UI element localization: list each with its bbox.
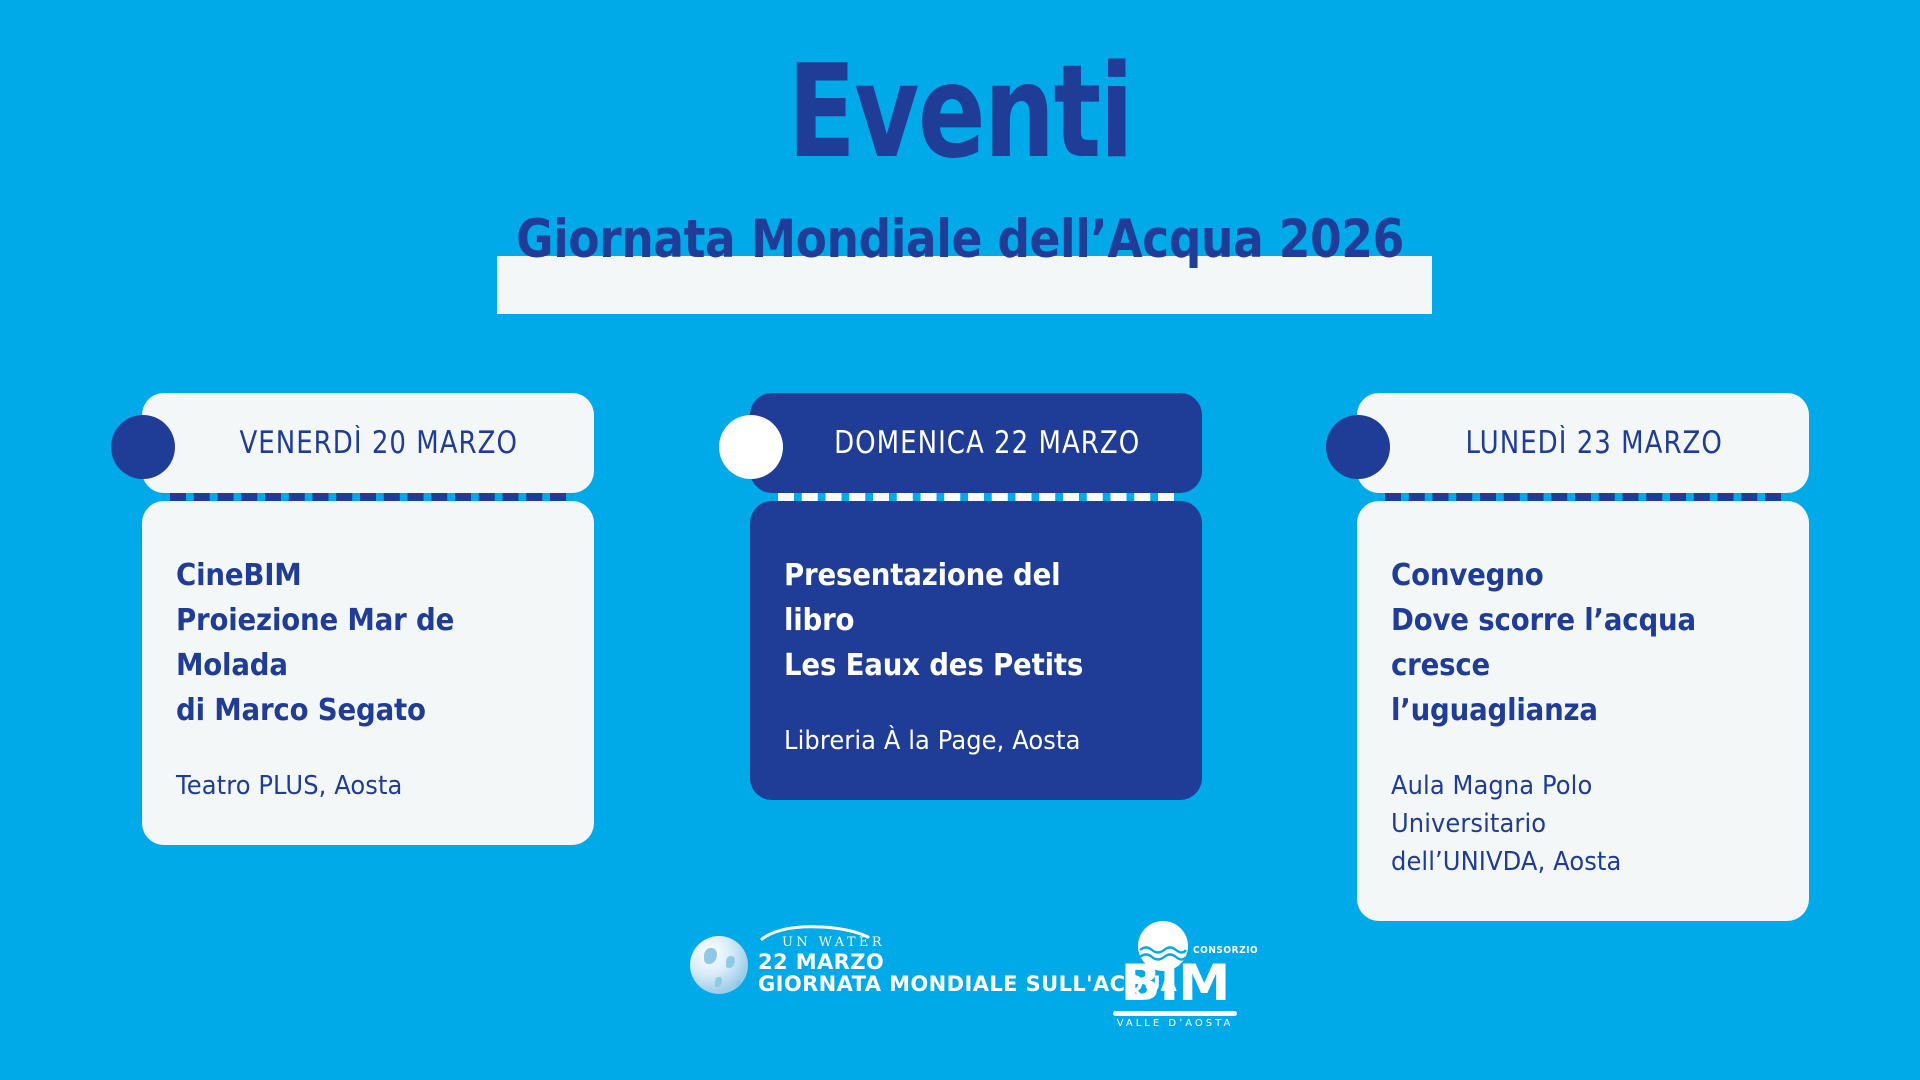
dashed-divider [1385, 493, 1781, 501]
event-day-label: VENERDÌ 20 MARZO [218, 425, 518, 461]
bullet-circle-icon [111, 415, 175, 479]
bullet-circle-icon [1326, 415, 1390, 479]
poster-canvas: Eventi Giornata Mondiale dell’Acqua 2026… [0, 0, 1920, 1080]
event-card-body: Presentazione del libro Les Eaux des Pet… [750, 501, 1202, 800]
event-card-lunedi-23-marzo[interactable]: LUNEDÌ 23 MARZO Convegno Dove scorre l’a… [1357, 393, 1809, 921]
bullet-circle-icon [719, 415, 783, 479]
bim-logo: CONSORZIO BIM VALLE D’AOSTA [1105, 915, 1245, 1035]
bim-region-label: VALLE D’AOSTA [1105, 1018, 1245, 1029]
bim-wordmark: BIM [1108, 955, 1242, 1011]
bim-underline-bar [1113, 1011, 1237, 1016]
wave-swoosh-icon [760, 925, 880, 941]
events-list: VENERDÌ 20 MARZO CineBIM Proiezione Mar … [0, 393, 1920, 833]
event-card-header: VENERDÌ 20 MARZO [142, 393, 594, 493]
dashed-divider [170, 493, 566, 501]
event-day-label: LUNEDÌ 23 MARZO [1443, 425, 1722, 461]
globe-icon [690, 936, 748, 994]
event-venue: Libreria À la Page, Aosta [784, 722, 1141, 760]
event-title: Convegno Dove scorre l’acqua cresce l’ug… [1391, 553, 1744, 733]
event-title: CineBIM Proiezione Mar de Molada di Marc… [176, 553, 529, 733]
event-venue: Teatro PLUS, Aosta [176, 767, 533, 805]
event-day-label: DOMENICA 22 MARZO [812, 425, 1140, 461]
logo-strip: UN WATER 22 MARZO GIORNATA MONDIALE SULL… [0, 915, 1920, 1035]
event-card-header: LUNEDÌ 23 MARZO [1357, 393, 1809, 493]
dashed-divider [778, 493, 1174, 501]
event-card-venerdi-20-marzo[interactable]: VENERDÌ 20 MARZO CineBIM Proiezione Mar … [142, 393, 594, 845]
page-subtitle: Giornata Mondiale dell’Acqua 2026 [134, 209, 1785, 271]
event-title: Presentazione del libro Les Eaux des Pet… [784, 553, 1137, 688]
header-block: Eventi Giornata Mondiale dell’Acqua 2026 [0, 0, 1920, 320]
page-title: Eventi [211, 48, 1709, 178]
event-card-body: Convegno Dove scorre l’acqua cresce l’ug… [1357, 501, 1809, 921]
event-card-body: CineBIM Proiezione Mar de Molada di Marc… [142, 501, 594, 845]
event-card-domenica-22-marzo[interactable]: DOMENICA 22 MARZO Presentazione del libr… [750, 393, 1202, 800]
event-card-header: DOMENICA 22 MARZO [750, 393, 1202, 493]
event-venue: Aula Magna Polo Universitario dell’UNIVD… [1391, 767, 1748, 881]
